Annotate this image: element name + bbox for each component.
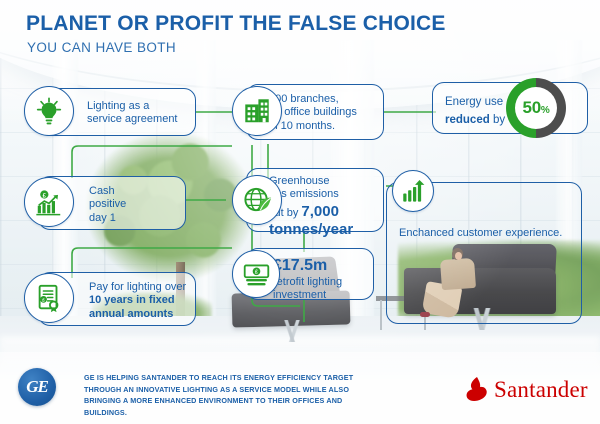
globe-leaf-icon bbox=[232, 175, 282, 225]
cash-stack-glyph: £ bbox=[242, 260, 271, 289]
donut-unit: % bbox=[541, 105, 550, 116]
ge-logo: GE bbox=[18, 368, 56, 406]
cash-positive-line3: day 1 bbox=[89, 212, 181, 225]
lighting-service-line2: service agreement bbox=[87, 113, 195, 126]
santander-flame-icon bbox=[466, 376, 488, 402]
greenhouse-value: 7,000 bbox=[301, 203, 339, 220]
growth-chart-glyph: £ bbox=[34, 187, 64, 217]
ge-logo-text: GE bbox=[26, 377, 48, 397]
donut-value: 50 bbox=[523, 98, 541, 117]
greenhouse-line2: gas emissions bbox=[269, 188, 383, 201]
cash-positive-line1: Cash bbox=[89, 185, 181, 198]
energy-reduction-donut-chart: 50% bbox=[506, 78, 566, 138]
certificate-glyph: £ bbox=[34, 283, 64, 313]
branches-line3: in 10 months. bbox=[269, 120, 383, 133]
santander-logo: Santander bbox=[466, 376, 588, 402]
office-building-glyph bbox=[242, 96, 272, 126]
cash-positive-line2: positive bbox=[89, 198, 181, 211]
greenhouse-unit: tonnes/year bbox=[269, 221, 383, 239]
energy-use-by: by bbox=[490, 114, 505, 126]
energy-use-reduced: reduced bbox=[445, 114, 490, 126]
branches-line1: 800 branches, bbox=[269, 93, 383, 106]
svg-text:£: £ bbox=[42, 297, 45, 302]
growth-chart-pound-icon: £ bbox=[24, 177, 74, 227]
lightbulb-icon bbox=[24, 86, 74, 136]
bar-chart-arrow-icon bbox=[392, 170, 434, 212]
donut-value-label: 50% bbox=[523, 98, 550, 118]
globe-leaf-glyph bbox=[242, 185, 273, 216]
connector-cash-up bbox=[72, 146, 232, 178]
branches-line2: 13 office buildings bbox=[269, 106, 383, 119]
investment-amount: £17.5m bbox=[273, 256, 373, 276]
customer-experience-text: Enchanced customer experience. bbox=[399, 227, 575, 240]
santander-wordmark: Santander bbox=[494, 378, 588, 401]
infographic-poster: PLANET OR PROFIT THE FALSE CHOICE YOU CA… bbox=[0, 0, 600, 424]
page-title: PLANET OR PROFIT THE FALSE CHOICE bbox=[26, 12, 446, 36]
lightbulb-glyph bbox=[34, 96, 64, 126]
investment-line3: investment bbox=[273, 289, 373, 302]
svg-text:£: £ bbox=[254, 269, 257, 275]
lighting-service-line1: Lighting as a bbox=[87, 100, 195, 113]
pay-lighting-line2: 10 years in fixed bbox=[89, 294, 195, 307]
investment-line2: retrofit lighting bbox=[273, 276, 373, 289]
certificate-pound-icon: £ bbox=[24, 273, 74, 323]
cash-stack-pound-icon: £ bbox=[232, 250, 280, 298]
pay-lighting-line3: annual amounts bbox=[89, 308, 195, 321]
office-building-icon bbox=[232, 86, 282, 136]
pay-lighting-line1: Pay for lighting over bbox=[89, 281, 195, 294]
page-subtitle: YOU CAN HAVE BOTH bbox=[27, 40, 176, 55]
bar-chart-arrow-glyph bbox=[400, 178, 426, 204]
greenhouse-line1: Greenhouse bbox=[269, 175, 383, 188]
footer-statement: GE IS HELPING SANTANDER TO REACH ITS ENE… bbox=[84, 372, 384, 419]
